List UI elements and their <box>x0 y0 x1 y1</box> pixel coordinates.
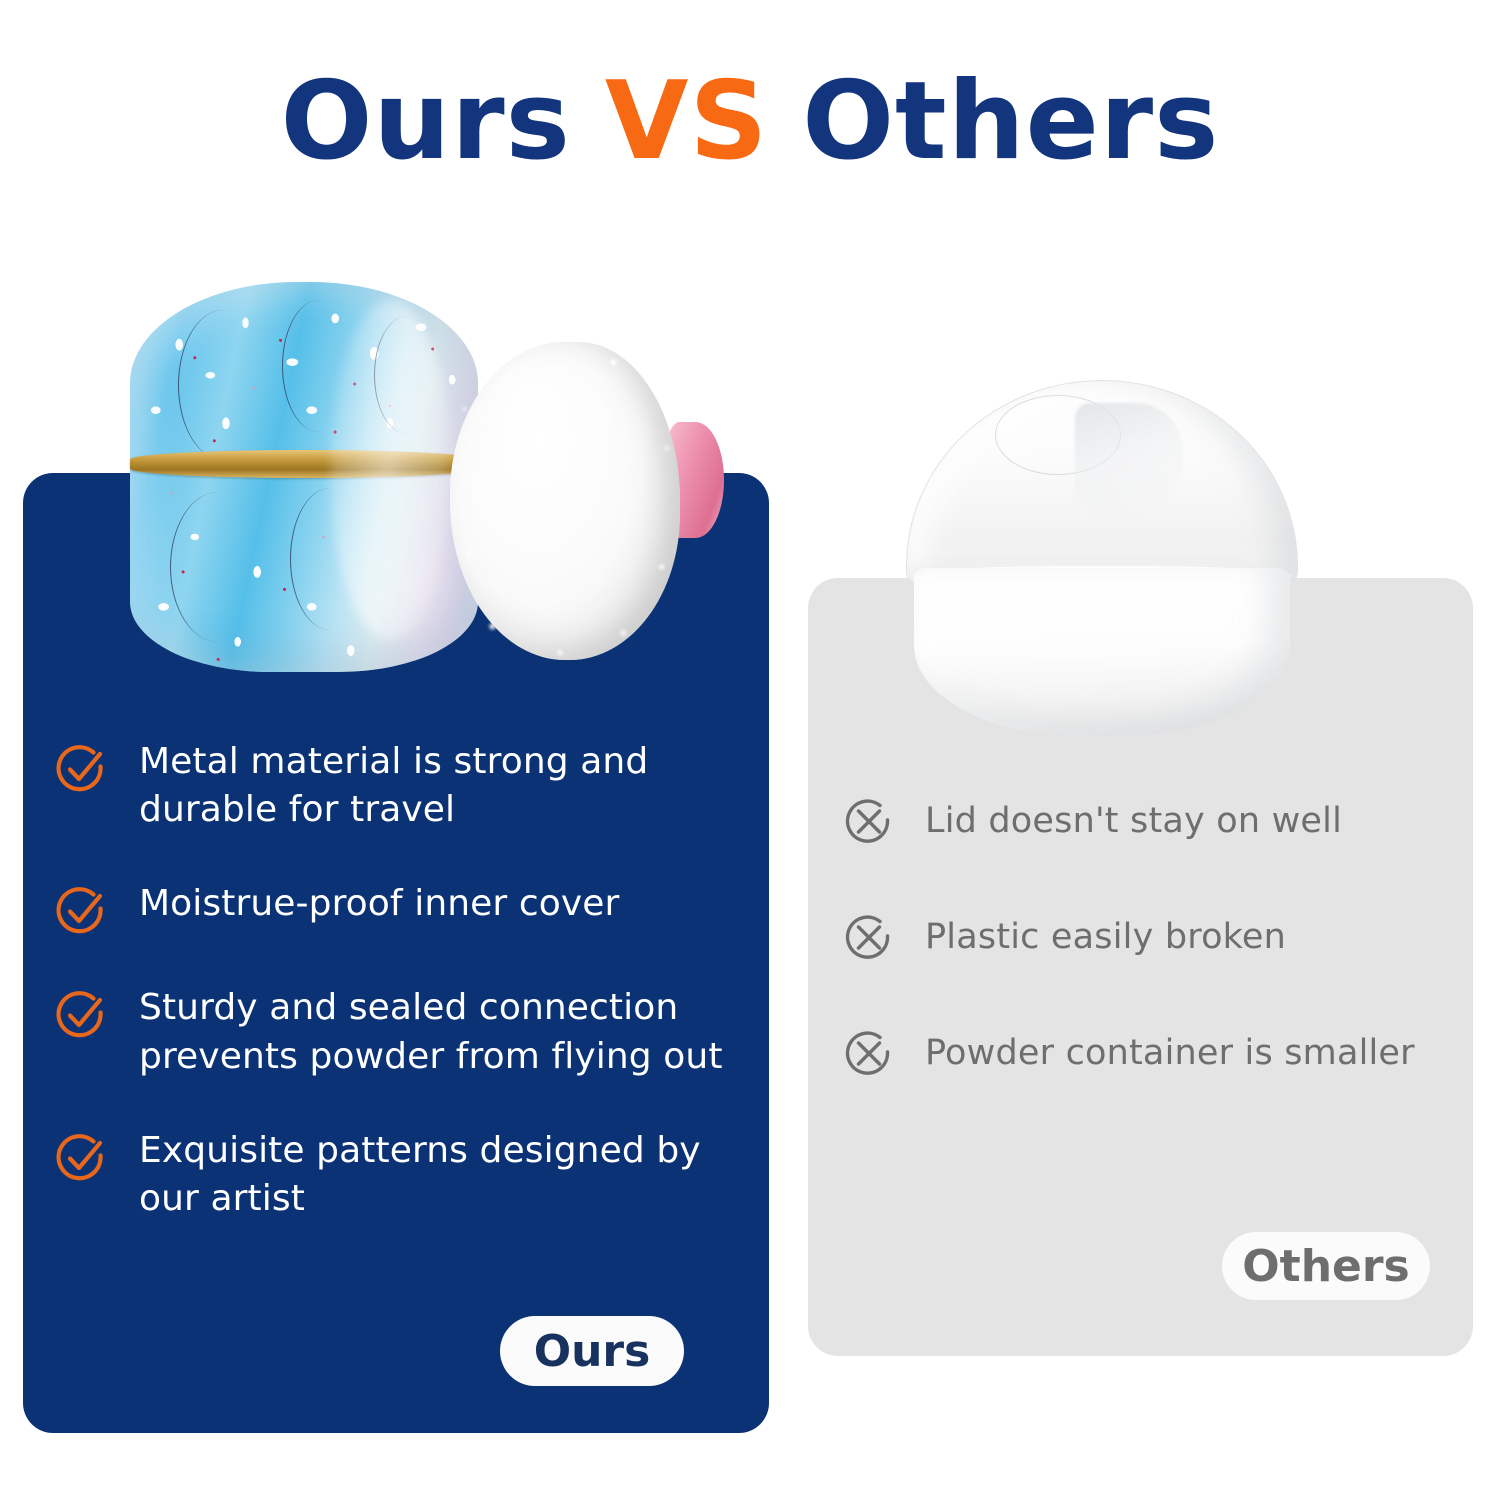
check-circle-icon <box>55 884 109 938</box>
check-circle-icon <box>55 1131 109 1185</box>
list-item: Sturdy and sealed connection prevents po… <box>55 984 745 1080</box>
title-ours-word: Ours <box>281 59 571 184</box>
list-item: Moistrue-proof inner cover <box>55 880 745 938</box>
powder-puff-icon <box>450 342 680 660</box>
title-vs-word: VS <box>605 59 768 184</box>
ours-benefit-list: Metal material is strong and durable for… <box>55 738 745 1223</box>
others-badge-label: Others <box>1242 1241 1410 1292</box>
plastic-container-base <box>914 568 1290 736</box>
list-item-label: Powder container is smaller <box>925 1031 1415 1077</box>
list-item-label: Metal material is strong and durable for… <box>139 738 739 834</box>
ours-product-image <box>120 270 740 690</box>
check-circle-icon <box>55 988 109 1042</box>
list-item: Exquisite patterns designed by our artis… <box>55 1127 745 1223</box>
others-product-image <box>880 380 1320 740</box>
x-circle-icon <box>843 912 895 964</box>
blossom-branch-icon <box>290 488 370 630</box>
list-item-label: Plastic easily broken <box>925 915 1286 961</box>
floral-metal-tin-icon <box>130 282 478 672</box>
x-circle-icon <box>843 796 895 848</box>
list-item: Powder container is smaller <box>843 1028 1463 1080</box>
check-circle-icon <box>55 742 109 796</box>
list-item: Lid doesn't stay on well <box>843 796 1463 848</box>
list-item-label: Sturdy and sealed connection prevents po… <box>139 984 739 1080</box>
list-item-label: Lid doesn't stay on well <box>925 799 1342 845</box>
ours-badge-label: Ours <box>534 1326 651 1377</box>
comparison-infographic: OursVSOthers <box>0 0 1500 1500</box>
page-title: OursVSOthers <box>0 68 1500 176</box>
clear-dome-lid <box>906 380 1298 586</box>
x-circle-icon <box>843 1028 895 1080</box>
list-item: Plastic easily broken <box>843 912 1463 964</box>
blossom-branch-icon <box>282 300 356 432</box>
tin-gold-band <box>130 450 478 478</box>
list-item: Metal material is strong and durable for… <box>55 738 745 834</box>
blossom-branch-icon <box>374 316 440 434</box>
title-others-word: Others <box>802 59 1219 184</box>
list-item-label: Moistrue-proof inner cover <box>139 880 619 928</box>
others-drawback-list: Lid doesn't stay on well Plastic easily … <box>843 796 1463 1080</box>
ours-badge: Ours <box>500 1316 684 1386</box>
list-item-label: Exquisite patterns designed by our artis… <box>139 1127 739 1223</box>
blossom-branch-icon <box>170 492 266 642</box>
blossom-branch-icon <box>178 310 268 460</box>
others-badge: Others <box>1222 1232 1430 1300</box>
